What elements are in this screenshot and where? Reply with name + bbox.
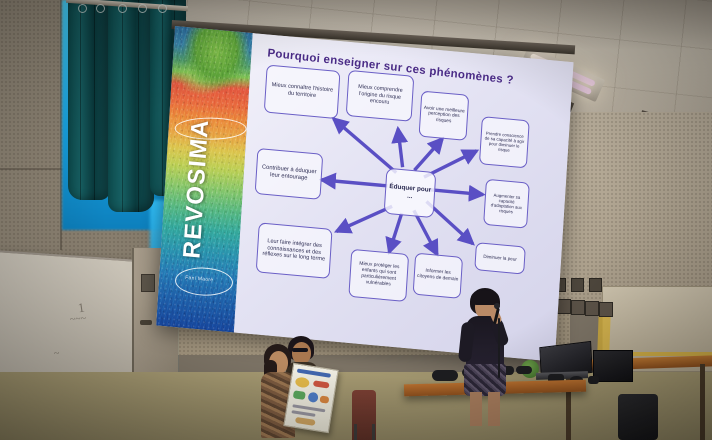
diagram-node-label: Avoir une meilleure perception des risqu… [422, 105, 465, 126]
door-handle[interactable] [140, 320, 152, 325]
diagram-node-label: Mieux connaître l'histoire du territoire [268, 82, 337, 101]
diagram-node-label: Prendre conscience de sa capacité à agir… [483, 130, 526, 154]
equipment-bag [618, 394, 658, 440]
presentation-room-photo: 1 ~~~ ~ Fani Maore REVOSIMA Pourquoi ens… [0, 0, 712, 440]
diagram-node: Mieux connaître l'histoire du territoire [264, 64, 341, 119]
external-monitor [593, 350, 633, 382]
curtain-panel [68, 0, 110, 200]
glasses-icon [292, 348, 308, 352]
microphone-resting [432, 370, 458, 381]
diagram-node: Augmenter sa capacité d'adaptation aux r… [483, 179, 530, 229]
projection-screen: Fani Maore REVOSIMA Pourquoi enseigner s… [156, 26, 573, 362]
diagram-node-label: Augmenter sa capacité d'adaptation aux r… [487, 192, 526, 216]
diagram-node: Prendre conscience de sa capacité à agir… [479, 116, 530, 168]
diagram-node: Mieux comprendre l'origine du risque enc… [346, 70, 415, 122]
diagram-node-label: Contribuer à éduquer leur entourage [259, 164, 320, 183]
device-box [588, 376, 599, 384]
diagram-node: Mieux protéger les enfants qui sont part… [348, 249, 409, 302]
diagram-node-label: Mieux protéger les enfants qui sont part… [352, 262, 405, 290]
device-on-table [516, 366, 532, 374]
diagram-hub: Éduquer pour ... [384, 168, 437, 218]
light-switch[interactable] [141, 274, 155, 292]
slide-content: Pourquoi enseigner sur ces phénomènes ? [234, 33, 574, 362]
diagram-hub-label: Éduquer pour ... [386, 183, 435, 203]
diagram-node: Diminuer la peur [474, 242, 526, 274]
diagram-node-label: Diminuer la peur [483, 254, 517, 262]
diagram-node: Informer les citoyens de demain [413, 253, 463, 299]
diagram-node: Avoir une meilleure perception des risqu… [419, 91, 470, 141]
diagram-node: Leur faire intégrer des connaissances et… [256, 222, 333, 279]
mic-cable [498, 318, 500, 378]
diagram-node: Contribuer à éduquer leur entourage [255, 148, 324, 200]
diagram-node-label: Mieux comprendre l'origine du risque enc… [350, 84, 411, 109]
diagram-node-label: Informer les citoyens de demain [417, 268, 460, 283]
curtain-panel [108, 0, 154, 212]
diagram-node-label: Leur faire intégrer des connaissances et… [260, 238, 329, 264]
